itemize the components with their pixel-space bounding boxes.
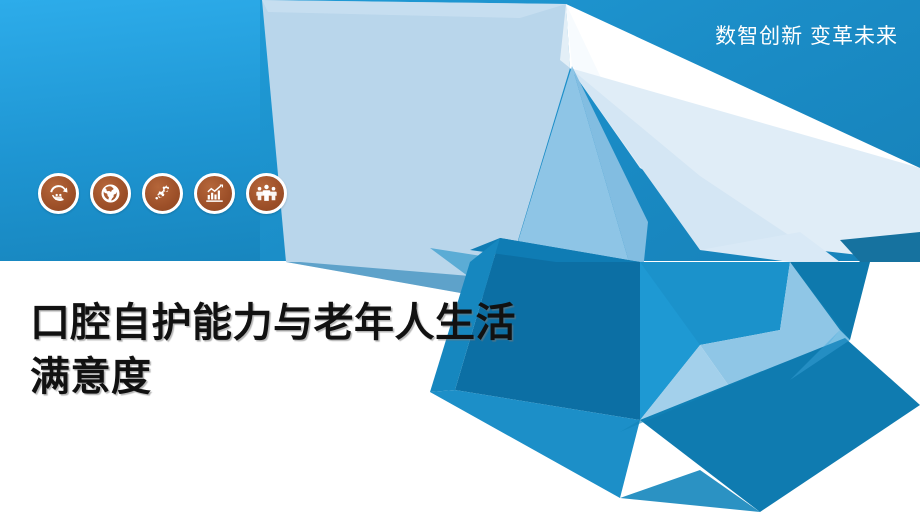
gears-icon: [151, 182, 174, 205]
globe-icon: [99, 182, 122, 205]
icon-badge-people-group[interactable]: [246, 173, 287, 214]
page-title-line-1: 口腔自护能力与老年人生活: [30, 296, 550, 350]
page-title-line-2: 满意度: [30, 350, 550, 404]
icon-badge-bar-chart[interactable]: [194, 173, 235, 214]
page-title: 口腔自护能力与老年人生活 满意度: [30, 296, 550, 405]
people-group-icon: [255, 182, 278, 205]
icon-row: [38, 173, 287, 214]
bar-chart-icon: [203, 182, 226, 205]
icon-badge-globe[interactable]: [90, 173, 131, 214]
background-artwork: [0, 0, 920, 518]
tagline-text: 数智创新 变革未来: [715, 26, 898, 47]
recycle-arrows-icon: [47, 182, 70, 205]
icon-badge-recycle[interactable]: [38, 173, 79, 214]
slide-canvas: 数智创新 变革未来: [0, 0, 920, 518]
icon-badge-gears[interactable]: [142, 173, 183, 214]
